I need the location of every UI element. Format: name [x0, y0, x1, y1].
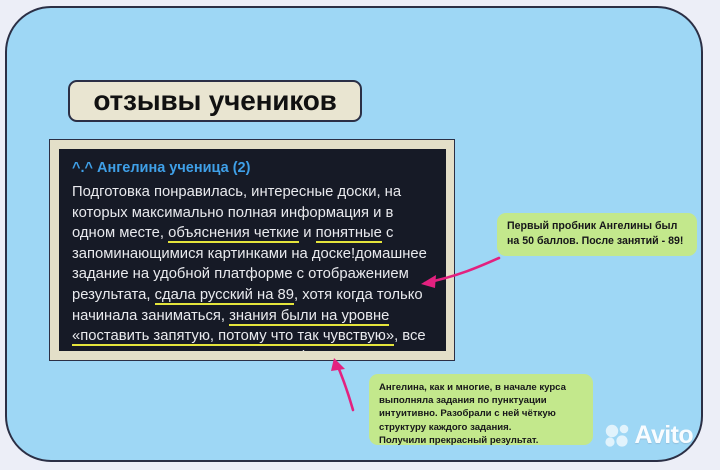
highlighted-phrase: сдала русский на 89: [155, 287, 294, 305]
avito-logo-icon: [605, 424, 631, 448]
highlighted-phrase: «поставить запятую, потому что так чувст…: [72, 328, 394, 346]
callout-note-line: Ангелина, как и многие, в начале курса: [379, 381, 584, 394]
highlighted-phrase: понятные: [316, 225, 382, 243]
callout-note: Ангелина, как и многие, в начале курса в…: [369, 374, 593, 445]
page-title-text: отзывы учеников: [93, 85, 336, 117]
avito-wordmark: Avito: [634, 423, 693, 448]
callout-score-line: Первый пробник Ангелины был: [507, 219, 688, 234]
avito-watermark: Avito: [605, 423, 693, 448]
arrow-up-icon: [325, 356, 371, 412]
review-author: ^.^ Ангелина ученица (2): [72, 159, 435, 178]
callout-note-line: выполняла задания по пунктуации: [379, 394, 584, 407]
review-card: ^.^ Ангелина ученица (2) Подготовка понр…: [49, 139, 455, 361]
callout-note-line: интуитивно. Разобрали с ней чёткую: [379, 407, 584, 420]
review-text-segment: и: [299, 225, 316, 241]
highlighted-phrase: знания были на уровне: [229, 308, 389, 326]
callout-note-line: структуру каждого задания.: [379, 421, 584, 434]
review-card-inner: ^.^ Ангелина ученица (2) Подготовка понр…: [59, 149, 446, 351]
blue-background-panel: отзывы учеников ^.^ Ангелина ученица (2)…: [5, 6, 703, 462]
callout-score-line: на 50 баллов. После занятий - 89!: [507, 234, 688, 249]
page-title: отзывы учеников: [68, 80, 362, 122]
review-body-text: Подготовка понравилась, интересные доски…: [72, 182, 435, 351]
callout-note-line: Получили прекрасный результат.: [379, 434, 584, 447]
callout-score: Первый пробник Ангелины был на 50 баллов…: [497, 213, 697, 256]
highlighted-phrase: объяснения четкие: [168, 225, 299, 243]
